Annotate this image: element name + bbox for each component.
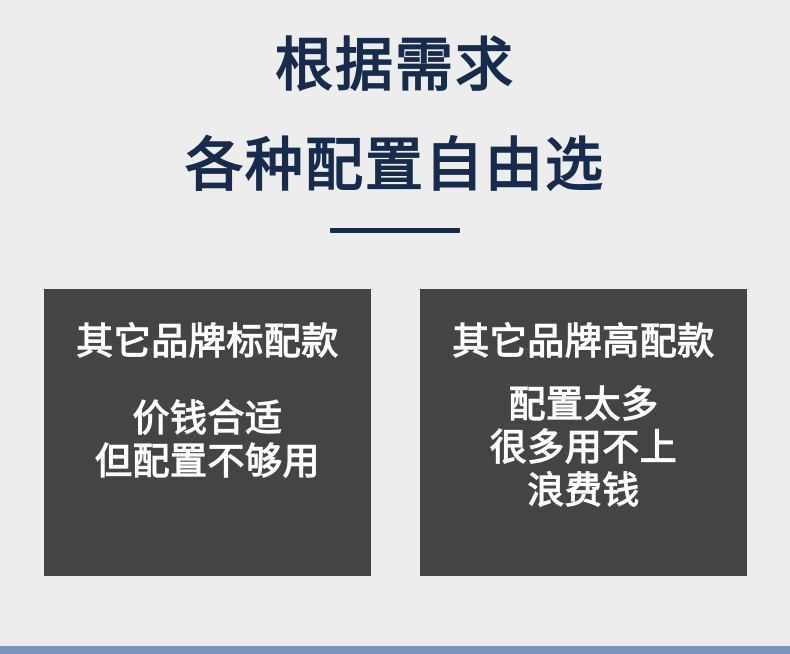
card-body-line: 价钱合适 [44,398,371,441]
footer-accent-strip [0,646,790,654]
card-body-line: 但配置不够用 [44,441,371,484]
card-high-config: 其它品牌高配款 配置太多 很多用不上 浪费钱 [420,289,747,576]
card-title: 其它品牌标配款 [76,323,339,360]
card-title: 其它品牌高配款 [452,323,715,360]
card-body-line: 浪费钱 [420,470,747,513]
card-body-line: 很多用不上 [420,427,747,470]
comparison-cards: 其它品牌标配款 价钱合适 但配置不够用 其它品牌高配款 配置太多 很多用不上 浪… [44,289,747,576]
card-body: 配置太多 很多用不上 浪费钱 [420,384,747,513]
card-standard-config: 其它品牌标配款 价钱合适 但配置不够用 [44,289,371,576]
card-body-line: 配置太多 [420,384,747,427]
header-divider [330,228,460,233]
promo-page: 根据需求 各种配置自由选 其它品牌标配款 价钱合适 但配置不够用 其它品牌高配款… [0,0,790,654]
card-body: 价钱合适 但配置不够用 [44,398,371,484]
headline-line-1: 根据需求 [0,37,790,95]
headline-line-2: 各种配置自由选 [0,137,790,195]
